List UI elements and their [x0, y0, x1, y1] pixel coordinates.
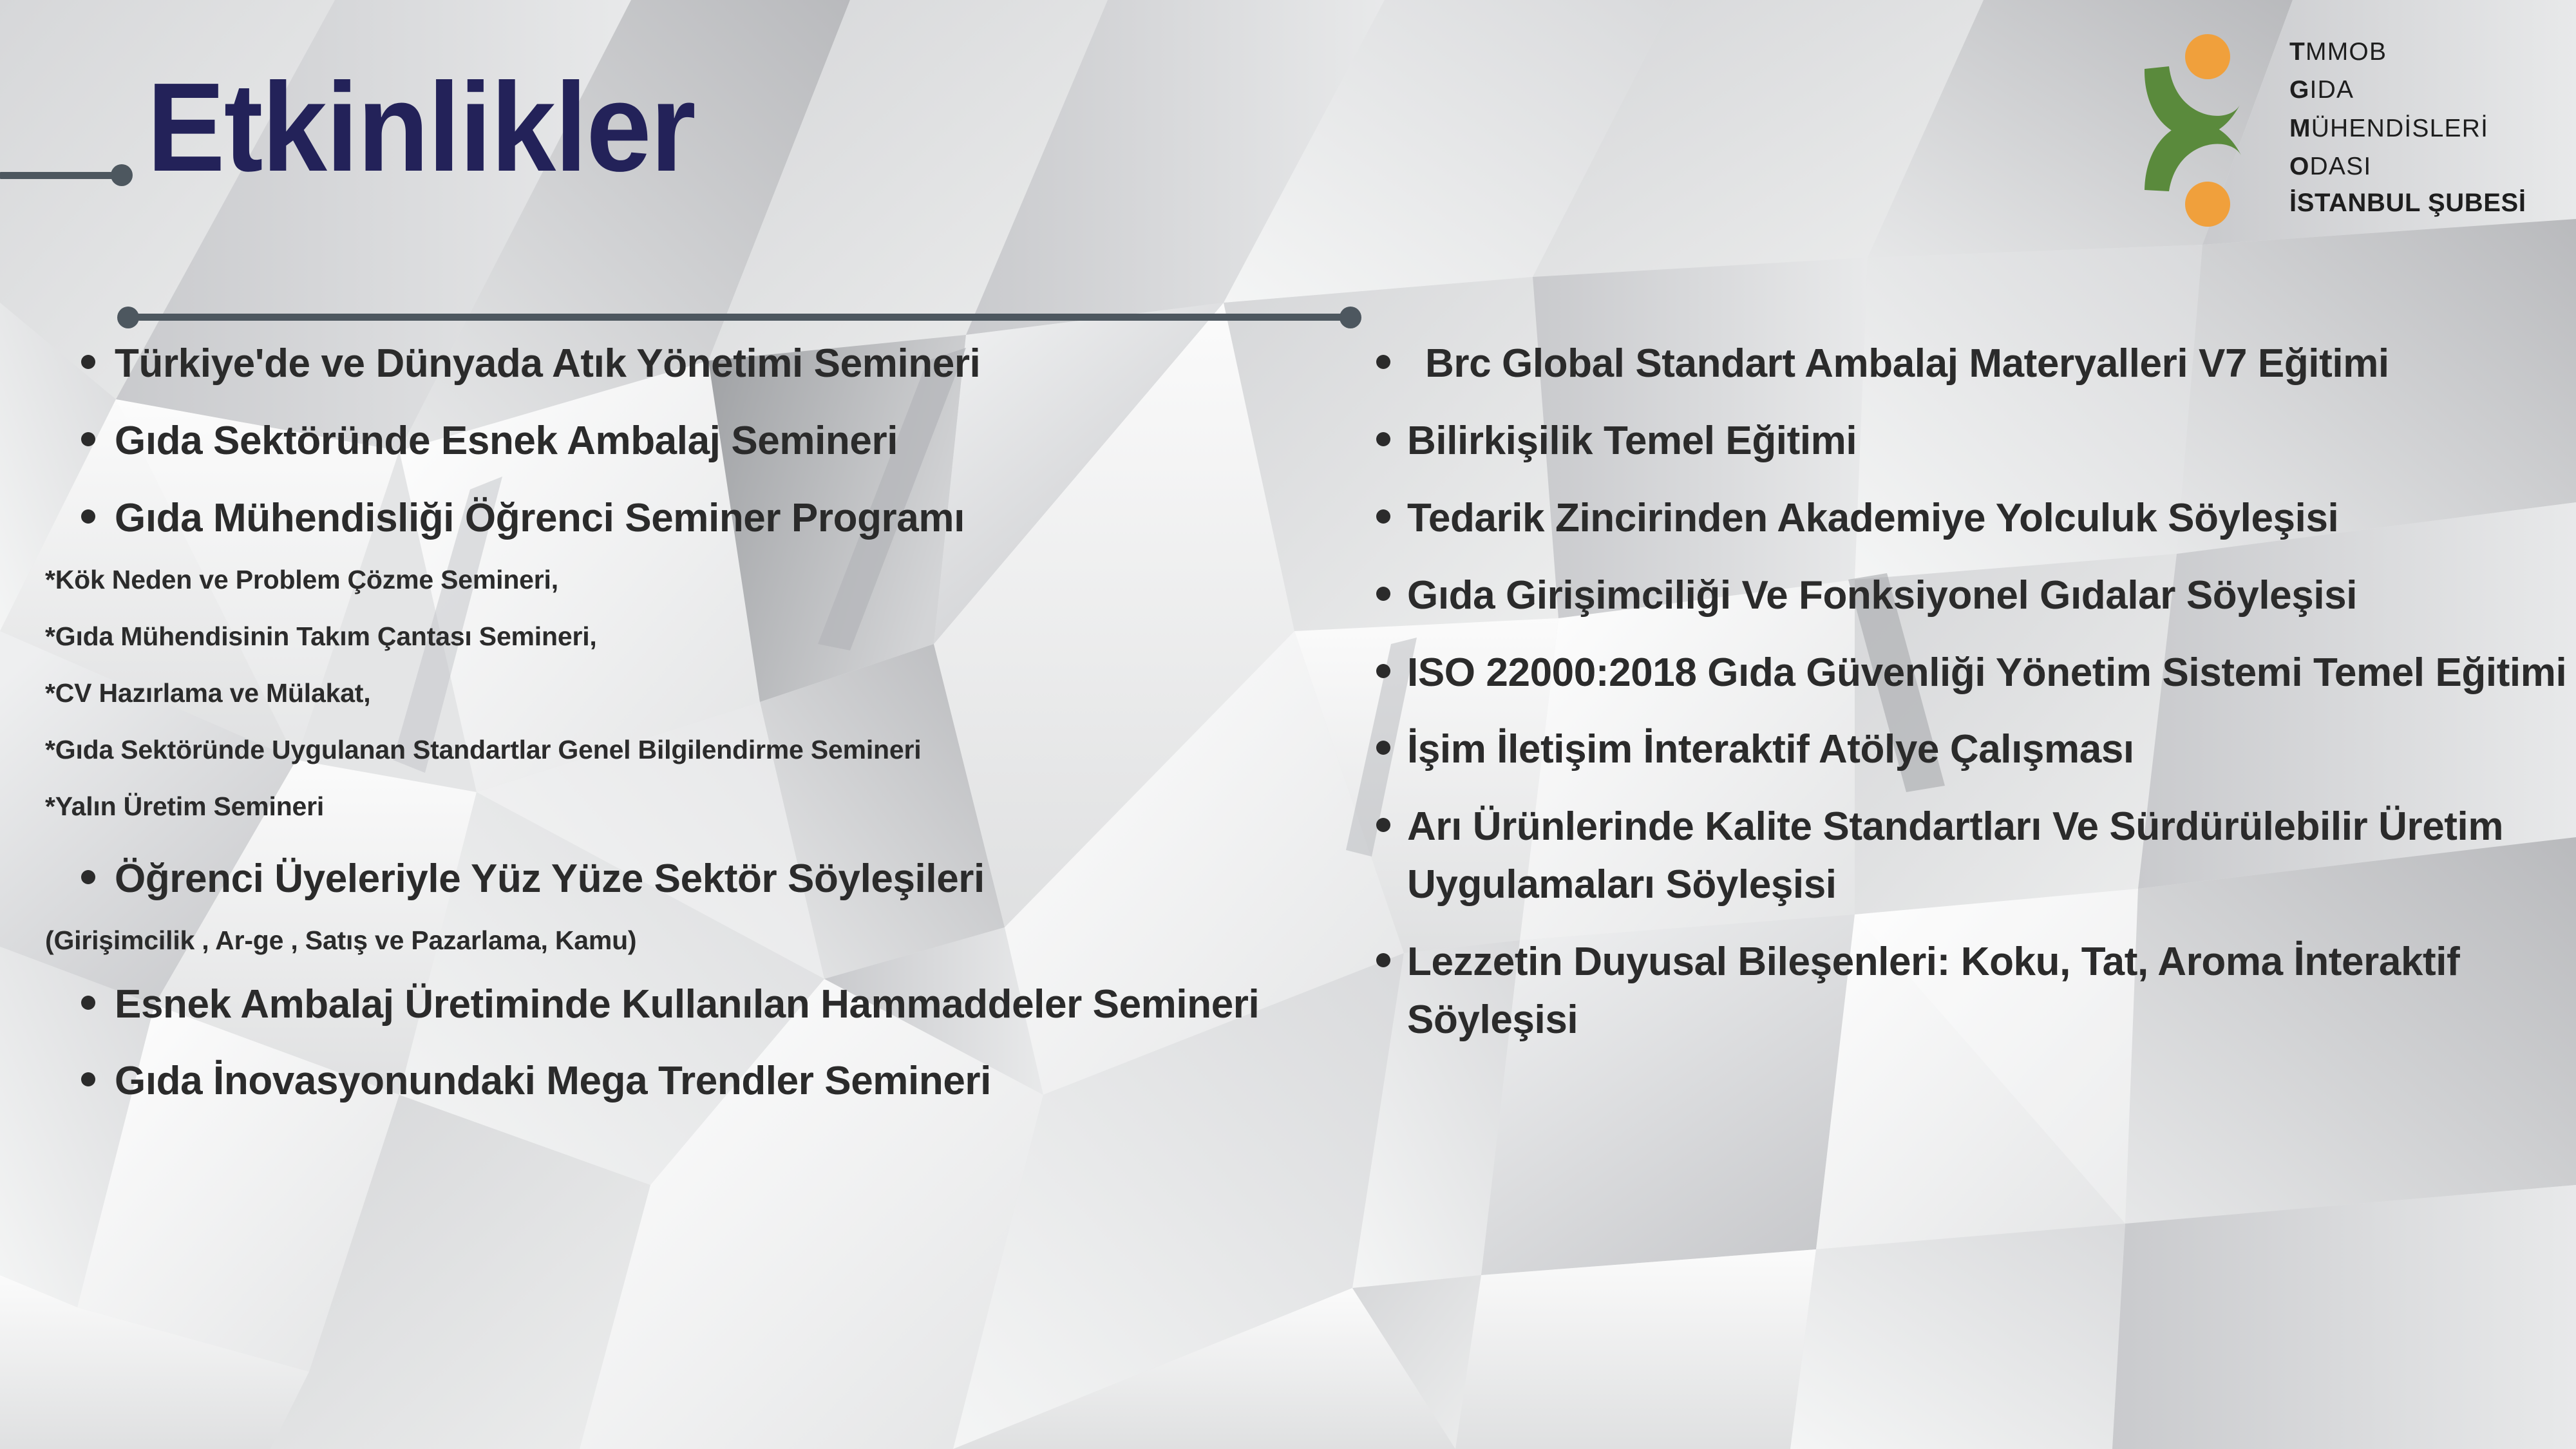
list-item-label: Bilirkişilik Temel Eğitimi: [1407, 412, 2576, 470]
list-item-label: Esnek Ambalaj Üretiminde Kullanılan Hamm…: [115, 976, 1340, 1034]
list-item-label: İşim İletişim İnteraktif Atölye Çalışmas…: [1407, 721, 2576, 779]
logo-figure-icon: [2132, 29, 2277, 229]
list-item: Lezzetin Duyusal Bileşenleri: Koku, Tat,…: [1375, 933, 2576, 1049]
sub-list-item: *Kök Neden ve Problem Çözme Semineri,: [45, 567, 1340, 593]
decorative-dot-long-start: [117, 307, 139, 328]
list-item: ISO 22000:2018 Gıda Güvenliği Yönetim Si…: [1375, 644, 2576, 702]
logo-line-gida: GIDA: [2289, 71, 2560, 109]
bullet-dot-icon: [1376, 953, 1390, 967]
bullet-dot-icon: [81, 355, 95, 369]
list-item: Gıda Mühendisliği Öğrenci Seminer Progra…: [45, 489, 1340, 547]
logo-line-muhendisleri: MÜHENDİSLERİ: [2289, 109, 2560, 147]
bullet-dot-icon: [1376, 355, 1390, 369]
logo-green-crescent-lower: [2145, 122, 2241, 191]
events-list-left-column: Türkiye'de ve Dünyada Atık Yönetimi Semi…: [45, 335, 1340, 1130]
sub-list-item: *Gıda Sektöründe Uygulanan Standartlar G…: [45, 737, 1340, 763]
bullet-dot-icon: [81, 432, 95, 446]
bullet-dot-icon: [1376, 818, 1390, 832]
bullet-dot-icon: [81, 870, 95, 884]
logo-wordmark: TMMOB GIDA MÜHENDİSLERİ ODASI İSTANBUL Ş…: [2289, 33, 2560, 220]
list-item: Esnek Ambalaj Üretiminde Kullanılan Hamm…: [45, 976, 1340, 1034]
list-item: Gıda Girişimciliği Ve Fonksiyonel Gıdala…: [1375, 567, 2576, 625]
list-item-label: Arı Ürünlerinde Kalite Standartları Ve S…: [1407, 798, 2576, 914]
list-item: İşim İletişim İnteraktif Atölye Çalışmas…: [1375, 721, 2576, 779]
logo-line-odasi: ODASI: [2289, 147, 2560, 185]
list-item-label: Gıda Mühendisliği Öğrenci Seminer Progra…: [115, 489, 1340, 547]
events-list-right-column: Brc Global Standart Ambalaj Materyalleri…: [1375, 335, 2576, 1068]
list-item-label: Gıda İnovasyonundaki Mega Trendler Semin…: [115, 1052, 1340, 1110]
decorative-dot-long-end: [1340, 307, 1361, 328]
bullet-dot-icon: [81, 509, 95, 524]
list-item-label: Lezzetin Duyusal Bileşenleri: Koku, Tat,…: [1407, 933, 2576, 1049]
list-item: Gıda Sektöründe Esnek Ambalaj Semineri: [45, 412, 1340, 470]
sub-list-item: *CV Hazırlama ve Mülakat,: [45, 680, 1340, 706]
bullet-dot-icon: [1376, 509, 1390, 524]
list-item-label: Türkiye'de ve Dünyada Atık Yönetimi Semi…: [115, 335, 1340, 393]
list-item: Türkiye'de ve Dünyada Atık Yönetimi Semi…: [45, 335, 1340, 393]
list-item-label: Brc Global Standart Ambalaj Materyalleri…: [1407, 335, 2576, 393]
page-title: Etkinlikler: [147, 68, 695, 187]
bullet-dot-icon: [81, 1072, 95, 1086]
list-item-label: ISO 22000:2018 Gıda Güvenliği Yönetim Si…: [1407, 644, 2576, 702]
decorative-rule-long: [126, 314, 1349, 321]
sub-list-item: *Yalın Üretim Semineri: [45, 793, 1340, 820]
logo-orange-circle-bottom: [2185, 182, 2230, 227]
list-item-label: Tedarik Zincirinden Akademiye Yolculuk S…: [1407, 489, 2576, 547]
list-item-note: (Girişimcilik , Ar-ge , Satış ve Pazarla…: [45, 927, 1340, 954]
list-item: Gıda İnovasyonundaki Mega Trendler Semin…: [45, 1052, 1340, 1110]
bullet-dot-icon: [81, 996, 95, 1010]
decorative-rule-short: [0, 172, 120, 179]
bullet-dot-icon: [1376, 741, 1390, 755]
logo-line-tmmob: TMMOB: [2289, 33, 2560, 71]
logo-line-istanbul-subesi: İSTANBUL ŞUBESİ: [2289, 185, 2560, 220]
list-item-label: Gıda Sektöründe Esnek Ambalaj Semineri: [115, 412, 1340, 470]
list-item: Tedarik Zincirinden Akademiye Yolculuk S…: [1375, 489, 2576, 547]
organization-logo: TMMOB GIDA MÜHENDİSLERİ ODASI İSTANBUL Ş…: [2132, 29, 2557, 241]
list-item-label: Öğrenci Üyeleriyle Yüz Yüze Sektör Söyle…: [115, 850, 1340, 908]
slide-canvas: Etkinlikler TMMOB GIDA MÜHENDİSLERİ ODAS…: [0, 0, 2576, 1449]
list-item: Brc Global Standart Ambalaj Materyalleri…: [1375, 335, 2576, 393]
sub-list-item: *Gıda Mühendisinin Takım Çantası Seminer…: [45, 623, 1340, 650]
list-item-label: Gıda Girişimciliği Ve Fonksiyonel Gıdala…: [1407, 567, 2576, 625]
logo-orange-circle-top: [2185, 34, 2230, 79]
bullet-dot-icon: [1376, 664, 1390, 678]
list-item: Bilirkişilik Temel Eğitimi: [1375, 412, 2576, 470]
list-item: Öğrenci Üyeleriyle Yüz Yüze Sektör Söyle…: [45, 850, 1340, 908]
bullet-dot-icon: [1376, 587, 1390, 601]
decorative-dot-short-end: [111, 164, 133, 186]
list-item: Arı Ürünlerinde Kalite Standartları Ve S…: [1375, 798, 2576, 914]
bullet-dot-icon: [1376, 432, 1390, 446]
